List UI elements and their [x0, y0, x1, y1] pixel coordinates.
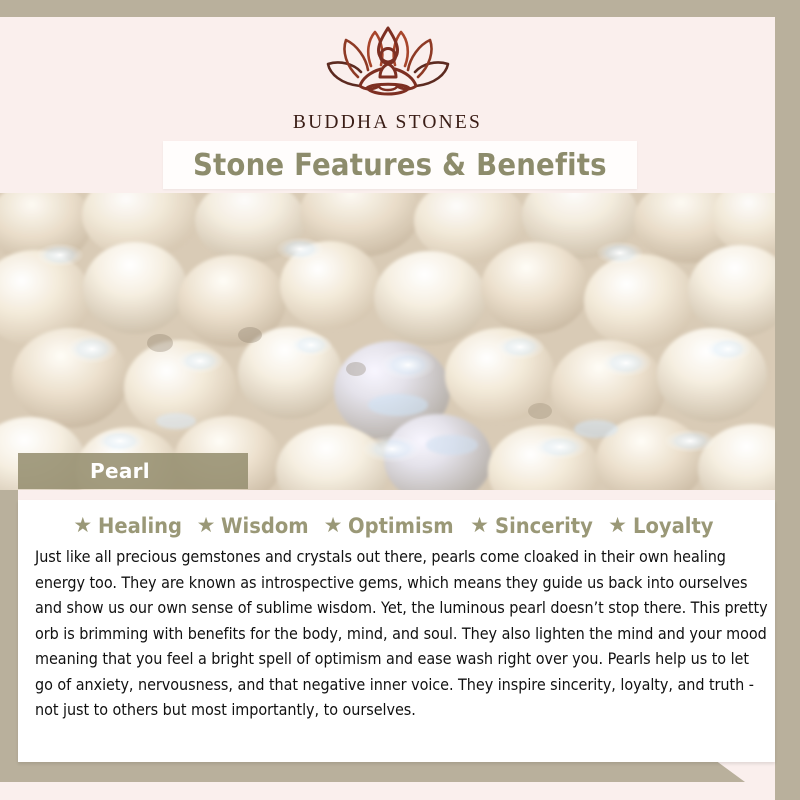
star-icon: ★	[73, 515, 92, 536]
keyword-item-optimism: ★ Optimism	[324, 514, 462, 538]
keyword-label: Sincerity	[495, 514, 593, 538]
star-icon: ★	[608, 515, 627, 536]
keyword-item-sincerity: ★ Sincerity	[470, 514, 600, 538]
keyword-item-loyalty: ★ Loyalty	[608, 514, 719, 538]
star-icon: ★	[470, 515, 489, 536]
bottom-border-band	[0, 760, 775, 782]
left-border-rail	[0, 490, 18, 778]
brand-wordmark: BUDDHA STONES	[293, 112, 482, 134]
hero-image	[0, 193, 775, 490]
keyword-list: ★ Healing ★ Wisdom ★ Optimism ★ Sincerit…	[18, 500, 775, 538]
keyword-item-healing: ★ Healing	[73, 514, 188, 538]
keyword-label: Healing	[98, 514, 182, 538]
star-icon: ★	[324, 515, 343, 536]
star-icon: ★	[197, 515, 216, 536]
brand-logo: BUDDHA STONES	[0, 20, 775, 134]
stone-name-tab: Pearl	[18, 453, 248, 489]
keyword-label: Loyalty	[633, 514, 714, 538]
content-card: ★ Healing ★ Wisdom ★ Optimism ★ Sincerit…	[18, 500, 775, 762]
stone-name-label: Pearl	[90, 459, 150, 483]
page-title: Stone Features & Benefits	[193, 148, 607, 183]
infographic-page: BUDDHA STONES Stone Features & Benefits	[0, 0, 800, 800]
keyword-item-wisdom: ★ Wisdom	[197, 514, 316, 538]
keyword-label: Wisdom	[221, 514, 309, 538]
lotus-meditation-icon	[313, 20, 463, 105]
page-title-banner: Stone Features & Benefits	[163, 141, 637, 189]
keyword-label: Optimism	[348, 514, 454, 538]
stone-description: Just like all precious gemstones and cry…	[35, 544, 771, 723]
